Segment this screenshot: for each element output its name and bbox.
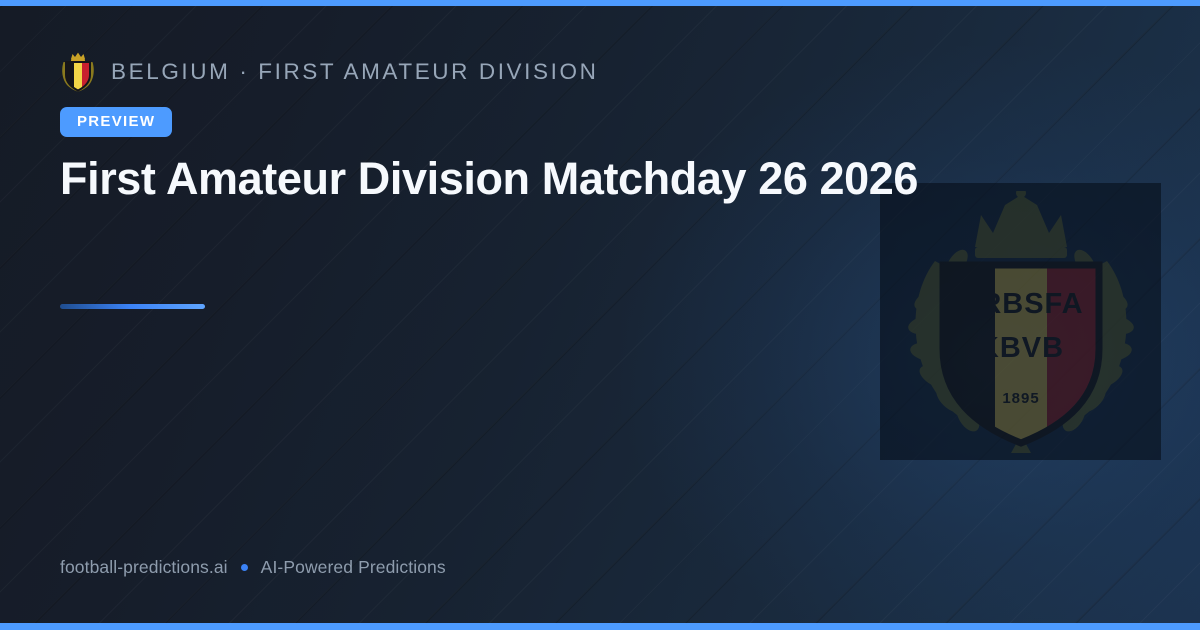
- title-accent-bar: [60, 304, 205, 309]
- footer-tagline: AI-Powered Predictions: [261, 557, 446, 578]
- page-title: First Amateur Division Matchday 26 2026: [60, 152, 985, 206]
- league-breadcrumb-label: BELGIUM · FIRST AMATEUR DIVISION: [111, 59, 598, 85]
- og-preview-card: URBSFA KBVB 1895: [0, 0, 1200, 630]
- footer-site-name: football-predictions.ai: [60, 557, 228, 578]
- card-content: BELGIUM · FIRST AMATEUR DIVISION PREVIEW…: [60, 6, 1200, 623]
- footer: football-predictions.ai AI-Powered Predi…: [60, 557, 446, 578]
- belgium-fa-crest-icon: [60, 52, 96, 92]
- dot-icon: [241, 564, 248, 571]
- status-badge: PREVIEW: [60, 107, 172, 137]
- league-breadcrumb: BELGIUM · FIRST AMATEUR DIVISION: [60, 52, 598, 92]
